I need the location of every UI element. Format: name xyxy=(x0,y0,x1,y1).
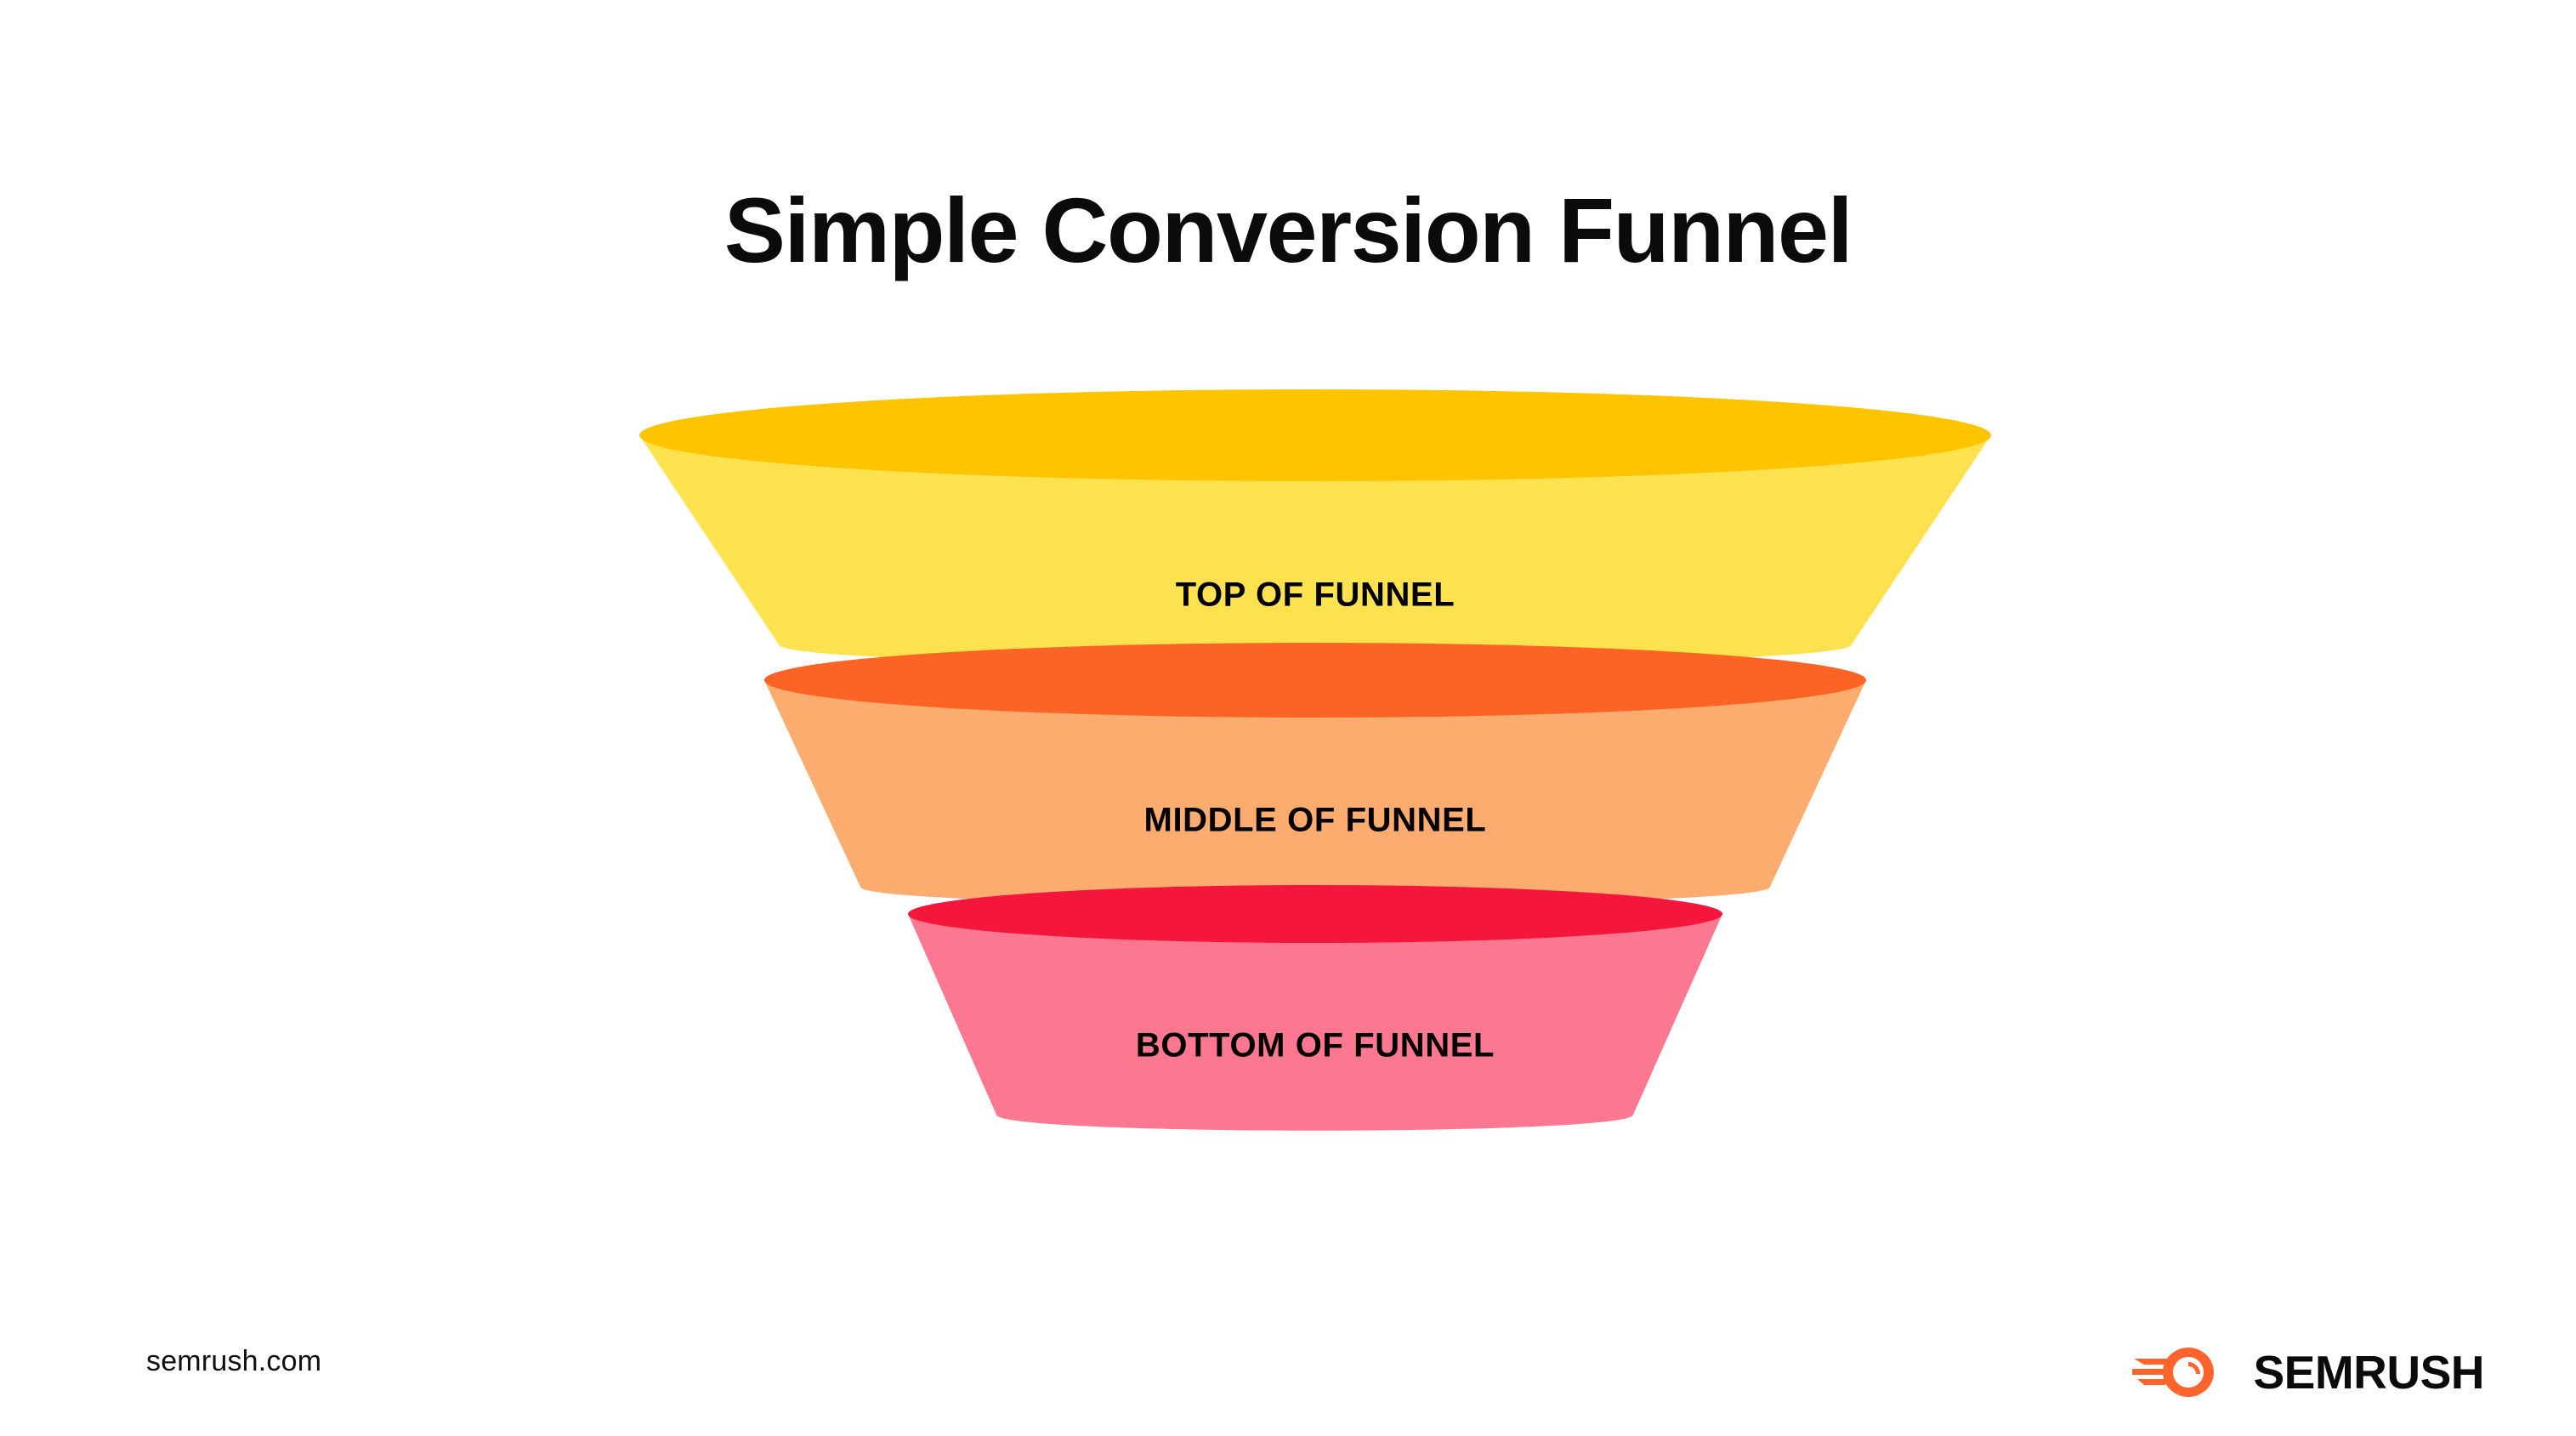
funnel-stage-middle xyxy=(764,643,1866,905)
funnel-stage-middle-body xyxy=(764,653,1866,905)
funnel-stage-top xyxy=(639,389,1991,665)
source-url: semrush.com xyxy=(146,1345,321,1378)
funnel-stage-bottom-body xyxy=(908,893,1722,1131)
slide-canvas: Simple Conversion Funnel TOP OF FUNNEL xyxy=(0,0,2576,1436)
funnel-stage-bottom-label: BOTTOM OF FUNNEL xyxy=(1136,1027,1495,1065)
semrush-comet-icon xyxy=(2132,1347,2231,1398)
funnel-stage-top-label: TOP OF FUNNEL xyxy=(1176,576,1455,615)
funnel-stage-middle-rim xyxy=(764,643,1866,718)
page-title: Simple Conversion Funnel xyxy=(0,180,2576,281)
semrush-logo: SEMRUSH xyxy=(2132,1341,2484,1404)
funnel-stage-middle-label: MIDDLE OF FUNNEL xyxy=(1144,802,1487,840)
semrush-wordmark: SEMRUSH xyxy=(2253,1349,2484,1396)
funnel-stage-top-body xyxy=(639,401,1991,665)
funnel-stage-bottom-rim xyxy=(908,885,1722,943)
funnel-stage-top-rim xyxy=(639,389,1991,481)
funnel-stage-bottom xyxy=(908,885,1722,1131)
